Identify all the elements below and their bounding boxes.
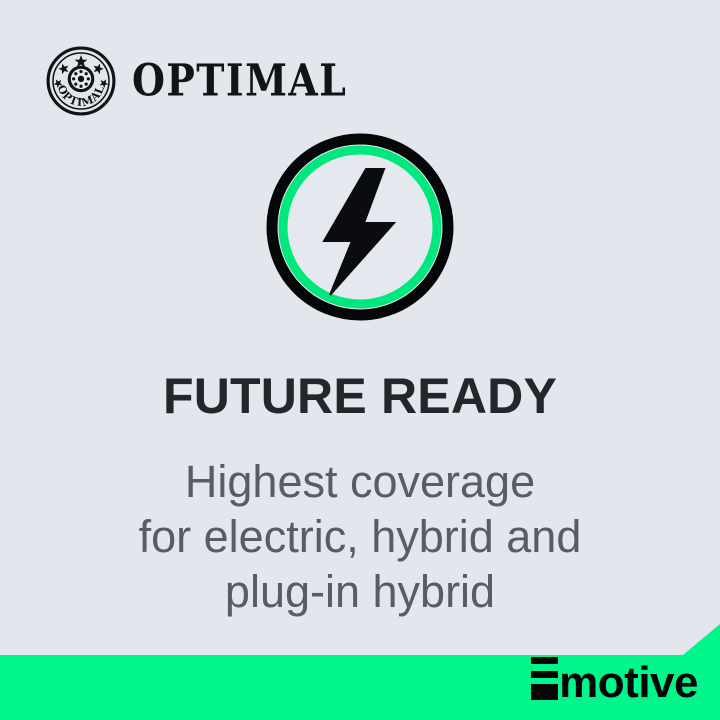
page-subtitle: Highest coverage for electric, hybrid an… [0, 455, 720, 620]
footer-band: motive [0, 624, 720, 720]
lightning-bolt-in-circle-icon [266, 133, 454, 321]
subtitle-line-1: Highest coverage [0, 455, 720, 510]
emotive-logo: motive [531, 657, 698, 700]
optimal-circular-badge-icon: OPTIMAL [46, 46, 116, 116]
brand-lockup: OPTIMAL OPTIMAL [46, 46, 354, 116]
poster-canvas: OPTIMAL OPTIMAL FUTU [0, 0, 720, 720]
subtitle-line-3: plug-in hybrid [0, 565, 720, 620]
page-title: FUTURE READY [0, 371, 720, 421]
emotive-e-glyph-icon [531, 657, 558, 700]
subtitle-line-2: for electric, hybrid and [0, 510, 720, 565]
emotive-logo-text: motive [559, 666, 698, 700]
brand-wordmark: OPTIMAL [132, 59, 347, 103]
